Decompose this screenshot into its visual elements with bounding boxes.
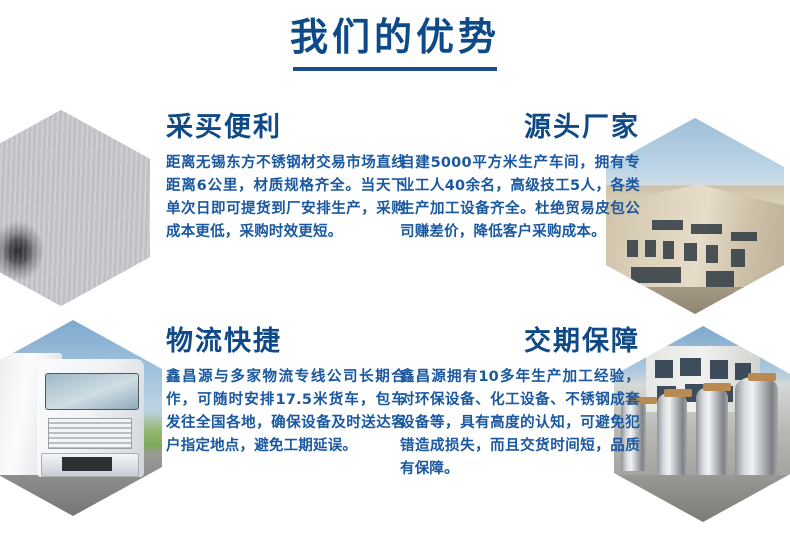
page-title: 我们的优势 bbox=[0, 14, 790, 60]
advantage-heading: 源头厂家 bbox=[400, 112, 640, 144]
title-underline-rule bbox=[293, 67, 497, 71]
advantage-body: 距离无锡东方不锈钢材交易市场直线距离6公里，材质规格齐全。当天下单次日即可提货到… bbox=[166, 152, 406, 244]
advantage-heading: 采买便利 bbox=[166, 112, 406, 144]
advantage-body: 鑫昌源与多家物流专线公司长期合作，可随时安排17.5米货车，包车发往全国各地，确… bbox=[166, 366, 406, 458]
advantage-heading: 物流快捷 bbox=[166, 326, 406, 358]
advantage-text-logistics: 物流快捷 鑫昌源与多家物流专线公司长期合作，可随时安排17.5米货车，包车发往全… bbox=[166, 326, 406, 458]
advantage-body: 鑫昌源拥有10多年生产加工经验，对环保设备、化工设备、不锈钢成套设备等，具有高度… bbox=[400, 366, 640, 481]
advantage-heading: 交期保障 bbox=[400, 326, 640, 358]
steel-coils-photo bbox=[0, 110, 150, 306]
delivery-truck-photo bbox=[0, 320, 162, 516]
advantage-text-delivery-guarantee: 交期保障 鑫昌源拥有10多年生产加工经验，对环保设备、化工设备、不锈钢成套设备等… bbox=[400, 326, 640, 481]
advantage-body: 自建5000平方米生产车间，拥有专业工人40余名，高级技工5人，各类生产加工设备… bbox=[400, 152, 640, 244]
advantage-text-manufacturer: 源头厂家 自建5000平方米生产车间，拥有专业工人40余名，高级技工5人，各类生… bbox=[400, 112, 640, 244]
page-header: 我们的优势 bbox=[0, 14, 790, 71]
stainless-tanks-photo bbox=[614, 326, 790, 522]
advantage-text-procurement: 采买便利 距离无锡东方不锈钢材交易市场直线距离6公里，材质规格齐全。当天下单次日… bbox=[166, 112, 406, 244]
